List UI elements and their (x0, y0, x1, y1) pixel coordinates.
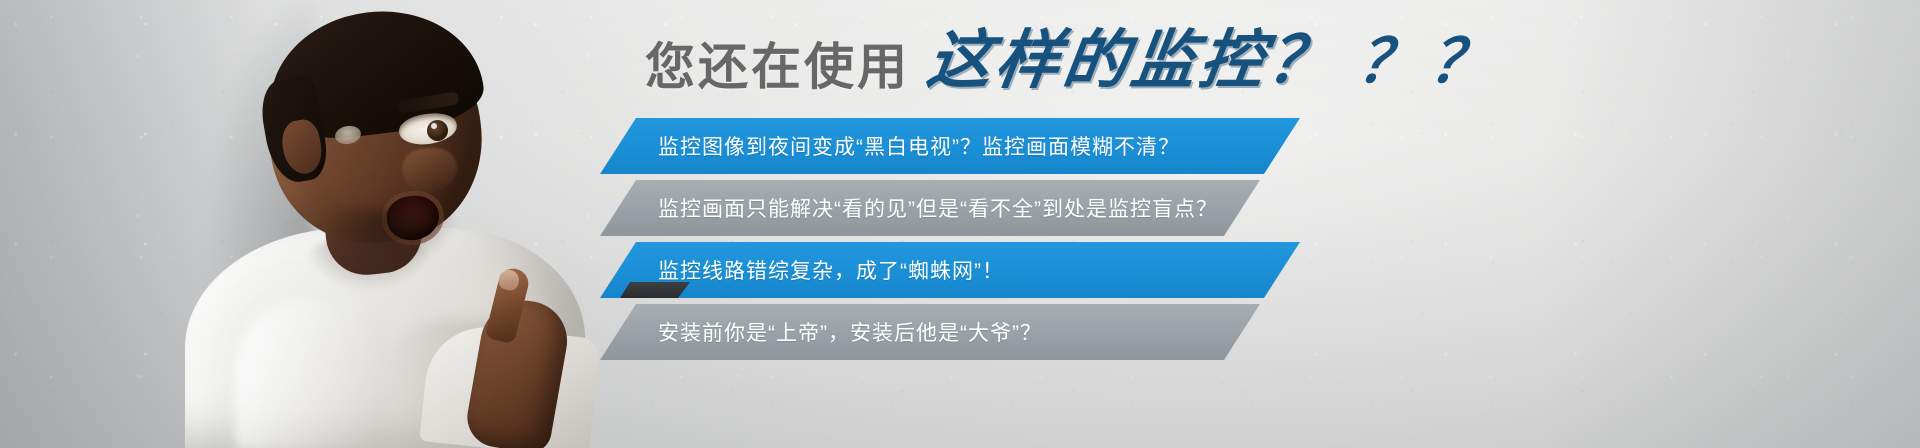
iris (427, 120, 448, 141)
bullet-bar-list: 监控图像到夜间变成“黑白电视”？监控画面模糊不清？ 监控画面只能解决“看的见”但… (600, 118, 1900, 366)
headline-accent-text: 这样的监控？ (924, 28, 1341, 92)
shirt-fold-left (235, 300, 385, 448)
bullet-bar-4: 安装前你是“上帝”，安装后他是“大爷”？ (600, 304, 1260, 360)
bullet-text-1: 监控图像到夜间变成“黑白电视”？监控画面模糊不清？ (658, 131, 1180, 161)
bullet-text-3: 监控线路错综复杂，成了“蜘蛛网”！ (658, 255, 1004, 285)
chin-shadow (325, 210, 455, 264)
headline-plain-text: 您还在使用 (645, 42, 910, 92)
decor-sliver-right (620, 282, 690, 298)
bullet-row-3: 监控线路错综复杂，成了“蜘蛛网”！ (600, 242, 1900, 298)
bullet-bar-1: 监控图像到夜间变成“黑白电视”？监控画面模糊不清？ (600, 118, 1300, 174)
headline: 您还在使用 这样的监控？ ？？ (645, 28, 1502, 92)
headline-question-marks: ？？ (1354, 32, 1506, 92)
bullet-text-2: 监控画面只能解决“看的见”但是“看不全”到处是监控盲点？ (658, 193, 1218, 223)
promo-banner: 您还在使用 这样的监控？ ？？ 监控图像到夜间变成“黑白电视”？监控画面模糊不清… (0, 0, 1920, 448)
bullet-text-4: 安装前你是“上帝”，安装后他是“大爷”？ (658, 317, 1042, 347)
bullet-row-2: 监控画面只能解决“看的见”但是“看不全”到处是监控盲点？ (600, 180, 1900, 236)
bullet-bar-3: 监控线路错综复杂，成了“蜘蛛网”！ (600, 242, 1300, 298)
bullet-row-4: 安装前你是“上帝”，安装后他是“大爷”？ (600, 304, 1900, 360)
bullet-bar-2: 监控画面只能解决“看的见”但是“看不全”到处是监控盲点？ (600, 180, 1260, 236)
bullet-row-1: 监控图像到夜间变成“黑白电视”？监控画面模糊不清？ (600, 118, 1900, 174)
person-photo (175, 0, 645, 448)
